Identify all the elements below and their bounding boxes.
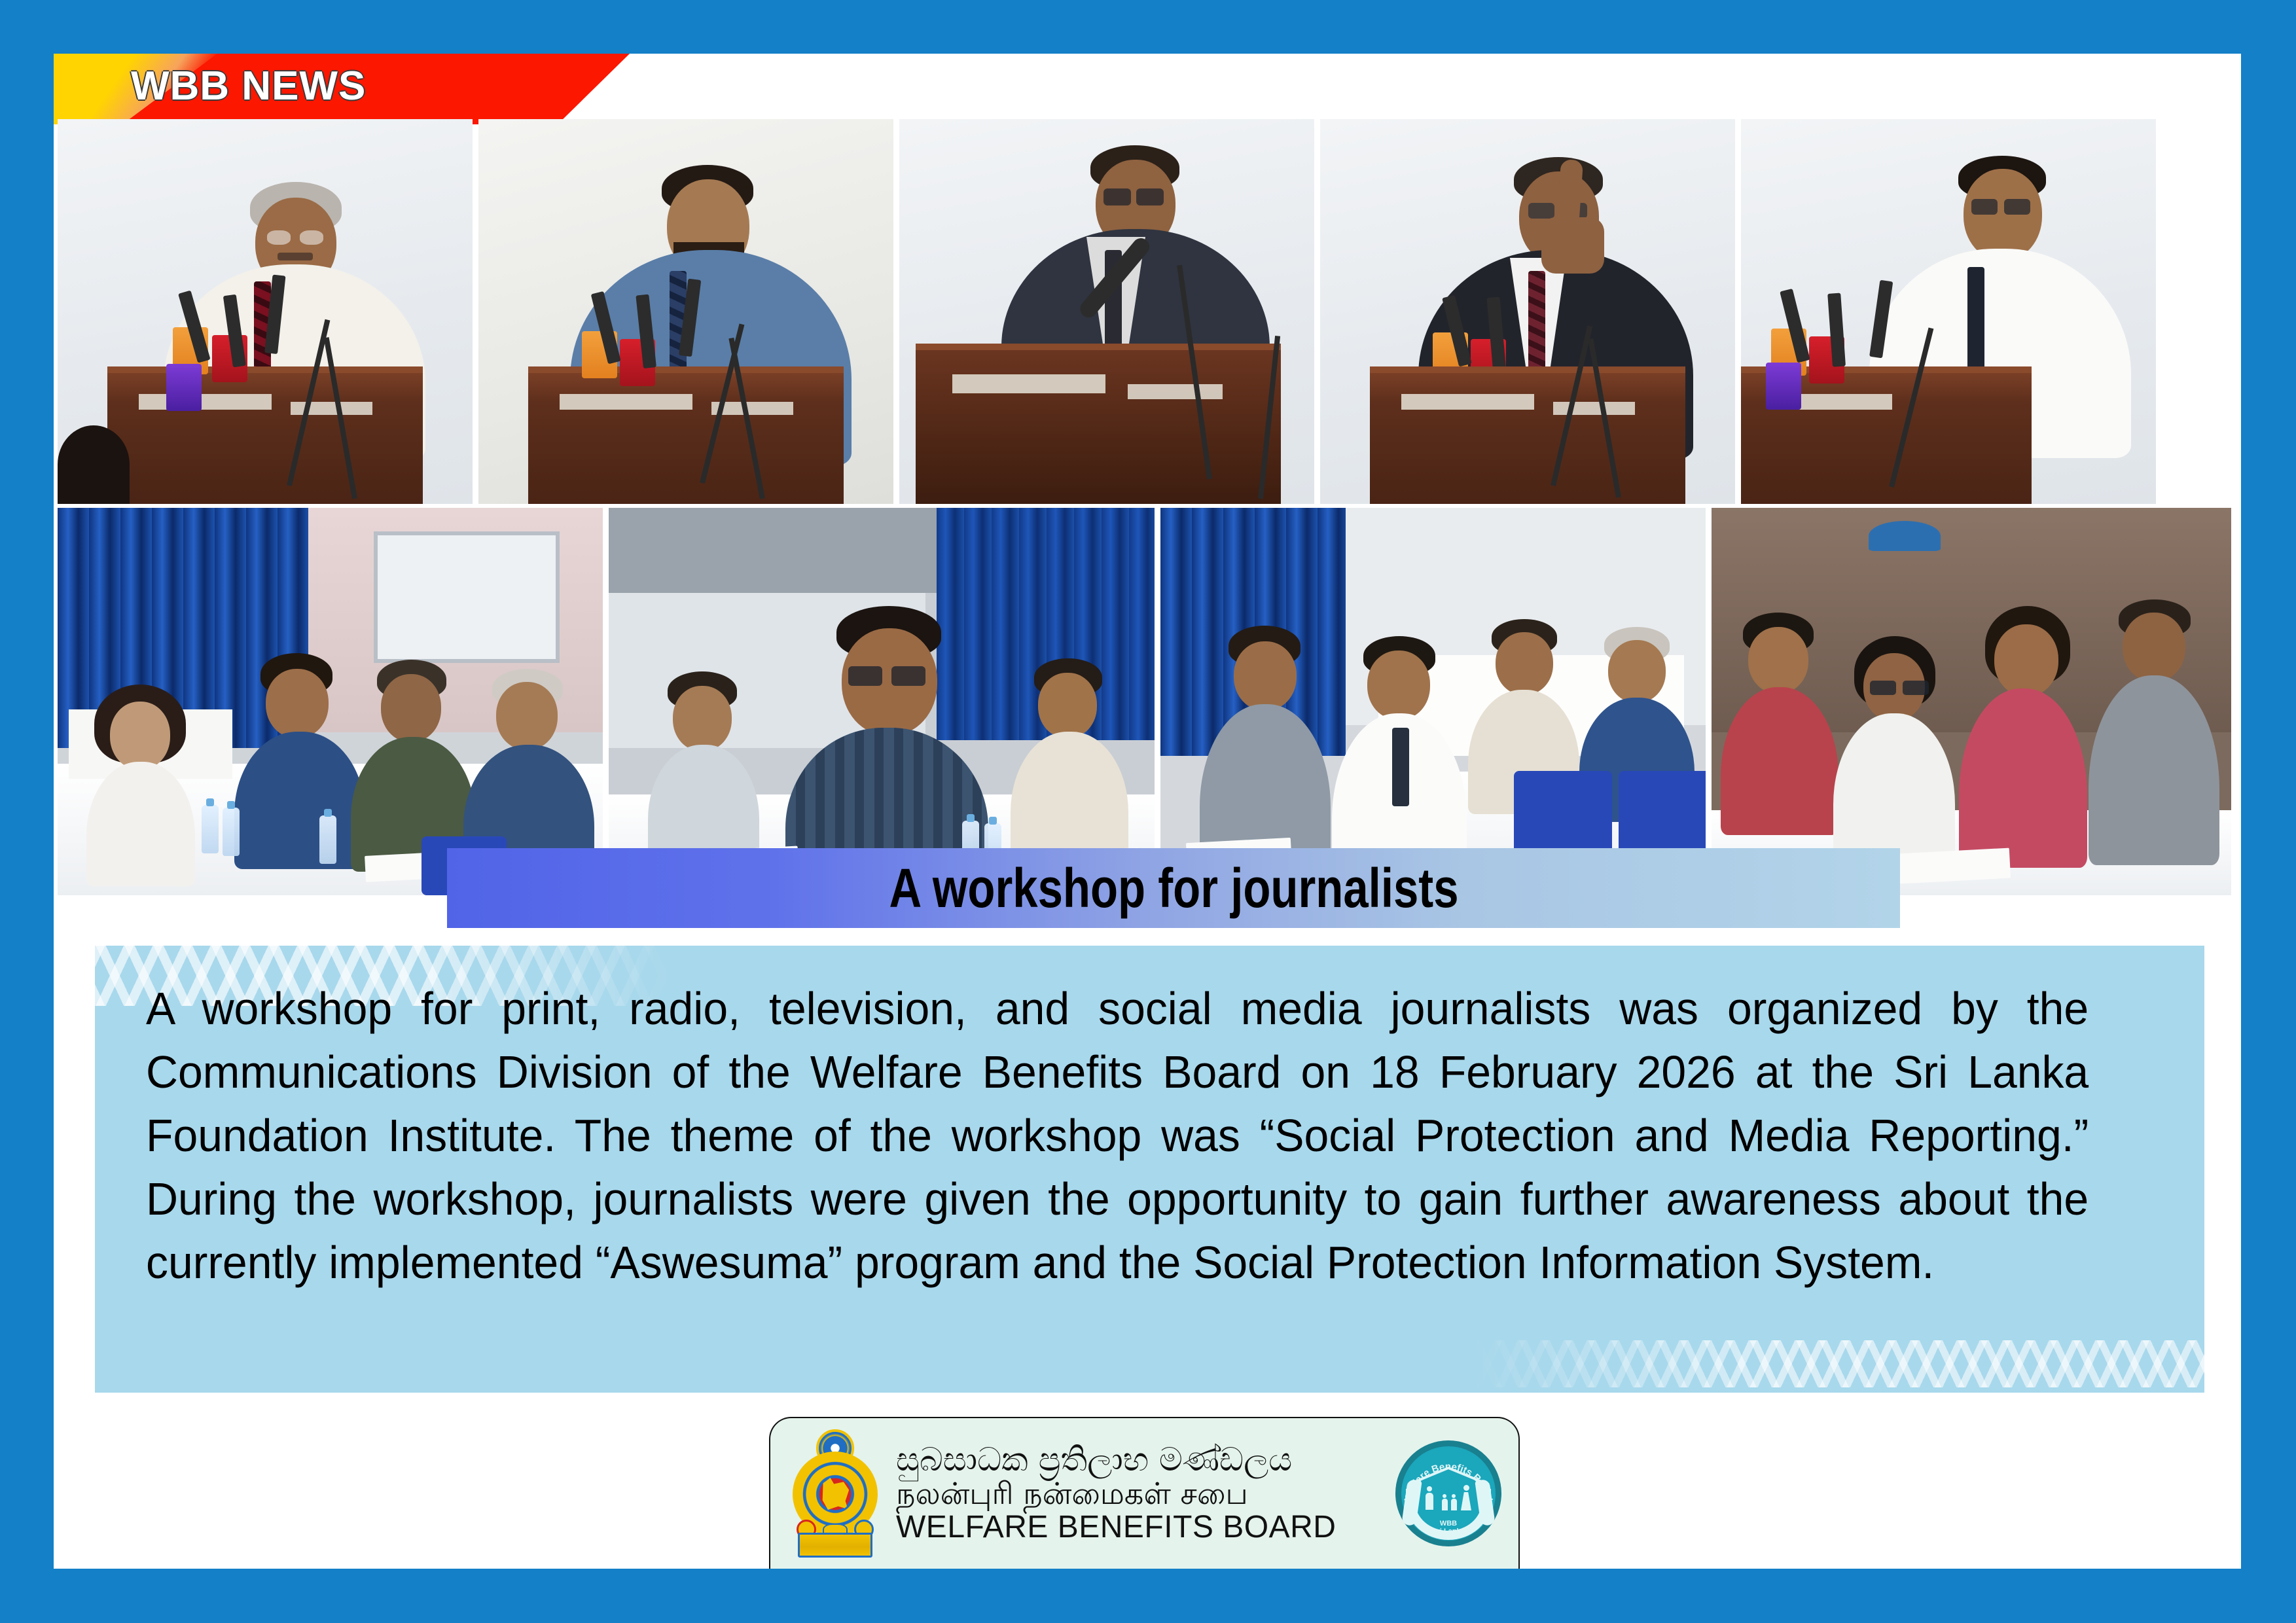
wbb-news-banner: WBB NEWS [54, 54, 630, 124]
photo-speaker-4 [1320, 119, 1735, 504]
organisation-names: සුබසාධක ප්‍රතිලාභ මණ්ඩලය நலன்புரி நன்மைக… [896, 1442, 1395, 1545]
banner-label: WBB NEWS [131, 63, 366, 109]
chevron-pattern-bottom-right-secondary-icon [1471, 1340, 2204, 1387]
article-paragraph: A workshop for print, radio, television,… [146, 977, 2089, 1294]
page-title: A workshop for journalists [889, 857, 1458, 920]
organisation-logo-strip: සුබසාධක ප්‍රතිලාභ මණ්ඩලය நலன்புரி நன்மைக… [769, 1417, 1520, 1569]
poster-page: WBB NEWS [54, 54, 2241, 1569]
photo-speaker-1 [58, 119, 473, 504]
photo-speaker-5 [1741, 119, 2156, 504]
photo-audience-1 [58, 508, 603, 895]
wbb-mark-line-1: WBB [1395, 1520, 1501, 1528]
photo-audience-3 [1160, 508, 1706, 895]
gallery-top-row [58, 119, 2237, 504]
photo-gallery [58, 119, 2237, 895]
sri-lanka-national-emblem-icon [786, 1428, 884, 1559]
photo-audience-4 [1712, 508, 2231, 895]
welfare-benefits-board-logo-icon: Welfare Benefits Board WBB Sri Lanka [1395, 1440, 1501, 1546]
photo-speaker-3 [899, 119, 1314, 504]
photo-speaker-2 [478, 119, 893, 504]
organisation-name-sinhala: සුබසාධක ප්‍රතිලාභ මණ්ඩලය [896, 1442, 1395, 1477]
photo-audience-2 [609, 508, 1154, 895]
wbb-mark-line-2: Sri Lanka [1395, 1527, 1501, 1536]
organisation-name-tamil: நலன்புரி நன்மைகள் சபை [896, 1477, 1395, 1511]
headline-bar: A workshop for journalists [447, 848, 1900, 928]
organisation-name-english: WELFARE BENEFITS BOARD [896, 1510, 1395, 1545]
gallery-bottom-row [58, 508, 2237, 895]
article-text-block: A workshop for print, radio, television,… [95, 946, 2204, 1393]
